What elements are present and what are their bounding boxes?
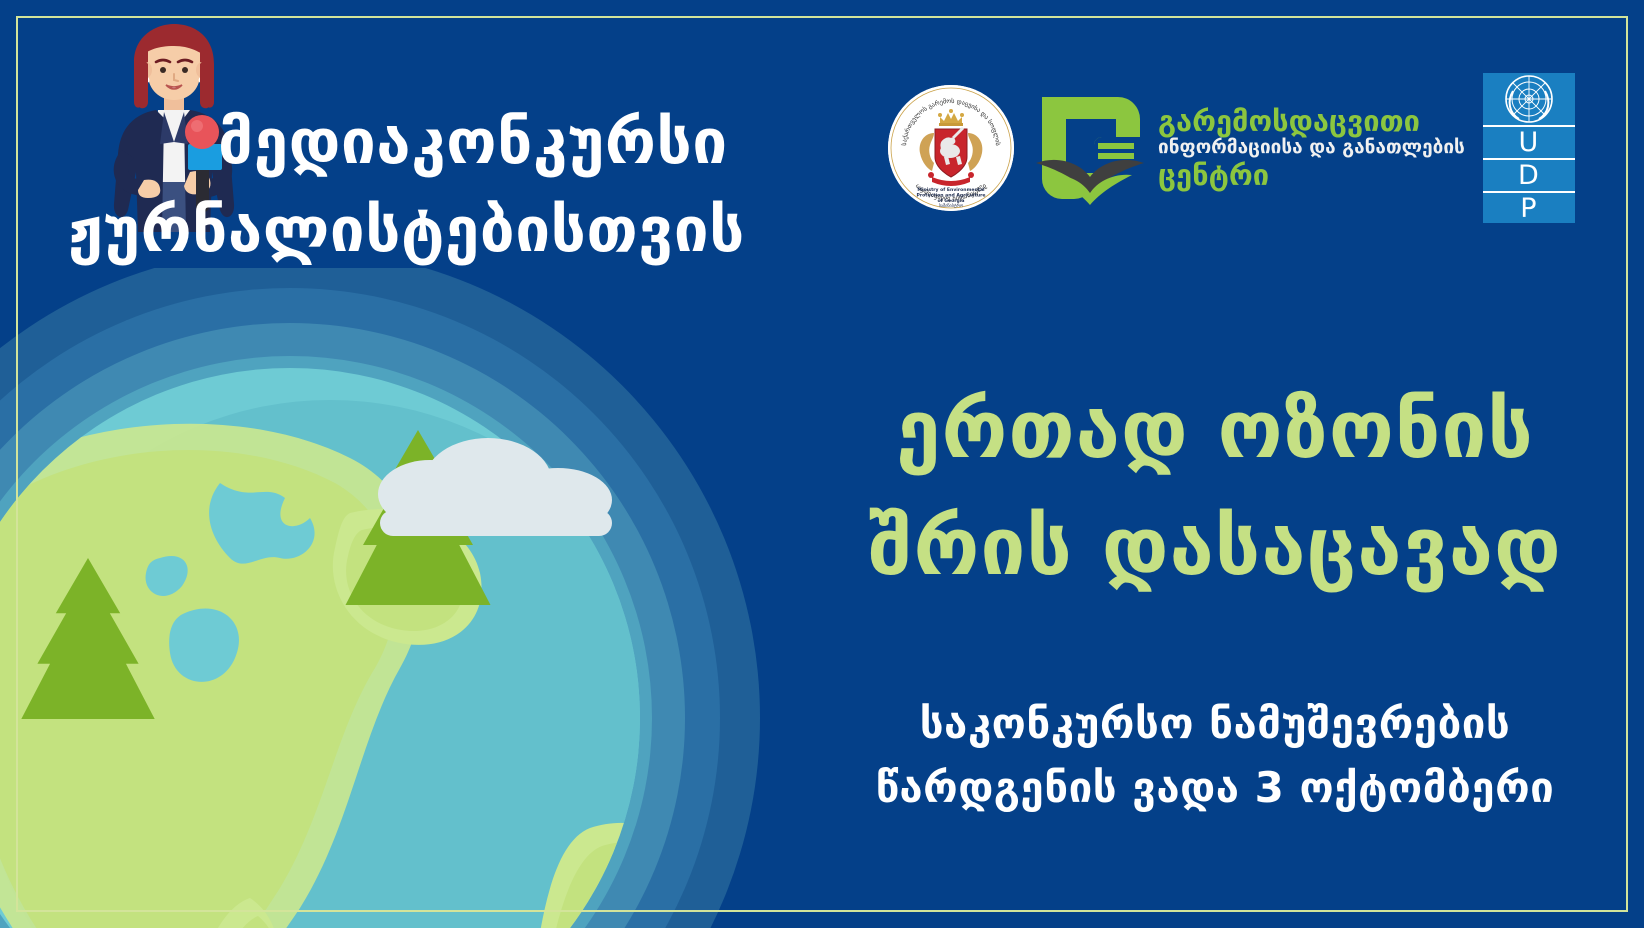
undp-logo: U D P (1483, 73, 1575, 223)
headline-line1: ერთად ოზონის (820, 372, 1610, 489)
campaign-headline: ერთად ოზონის შრის დასაცავად (820, 372, 1610, 606)
seal-latin-line1: Ministry of Environmental (917, 187, 985, 193)
subtitle-line1: საკონკურსო ნამუშევრების (820, 692, 1610, 756)
eco-centre-line3: ცენტრი (1158, 159, 1465, 191)
page-title-line1: მედიაკონკურსი (68, 98, 788, 186)
earth-globe-illustration (0, 268, 790, 928)
undp-letter-d: D (1483, 160, 1575, 193)
poster-canvas: მედიაკონკურსი ჟურნალისტებისთვის საქართვე… (0, 0, 1644, 928)
eco-centre-line2: ინფორმაციისა და განათლების (1158, 137, 1465, 158)
undp-letter-p: P (1483, 193, 1575, 224)
page-title-line2: ჟურნალისტებისთვის (68, 186, 788, 274)
undp-letter-u: U (1483, 127, 1575, 160)
undp-letters: U D P (1483, 127, 1575, 224)
eco-centre-line1: გარემოსდაცვითი (1158, 105, 1465, 137)
submission-deadline-text: საკონკურსო ნამუშევრების წარდგენის ვადა 3… (820, 692, 1610, 820)
seal-latin-line4: სამინისტრო (939, 203, 964, 208)
ministry-of-environment-seal-logo: საქართველოს გარემოს დაცვისა და სოფლის მე… (888, 85, 1014, 211)
un-emblem-icon (1483, 73, 1575, 127)
environmental-information-education-centre-logo: გარემოსდაცვითი ინფორმაციისა და განათლები… (1032, 89, 1465, 207)
page-title: მედიაკონკურსი ჟურნალისტებისთვის (68, 98, 788, 274)
seal-latin-line2: Protection and Agriculture (917, 193, 986, 199)
eco-centre-mark-icon (1032, 89, 1148, 207)
logo-strip: საქართველოს გარემოს დაცვისა და სოფლის მე… (888, 68, 1575, 228)
subtitle-line2: წარდგენის ვადა 3 ოქტომბერი (820, 756, 1610, 820)
headline-line2: შრის დასაცავად (820, 489, 1610, 606)
